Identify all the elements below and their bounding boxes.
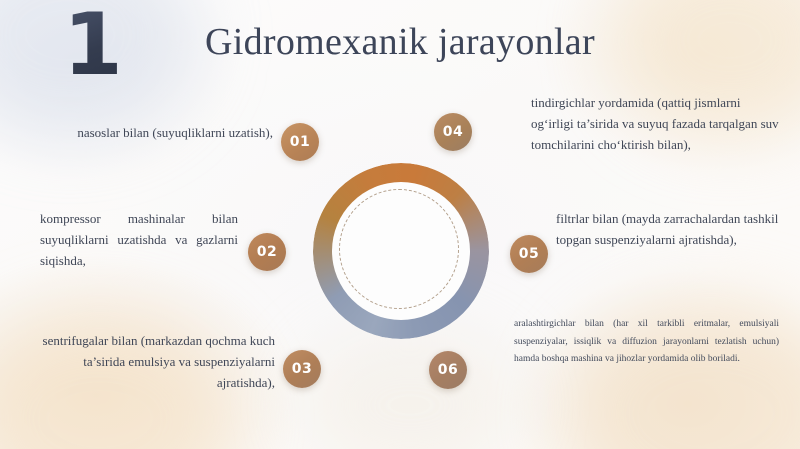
badge-05[interactable]: 05 bbox=[510, 235, 548, 273]
item-text-05: filtrlar bilan (mayda zarrachalardan tas… bbox=[556, 208, 784, 250]
page-title: Gidromexanik jarayonlar bbox=[205, 20, 725, 64]
slide-number: 1 bbox=[63, 2, 121, 88]
item-text-02: kompressor mashinalar bilan suyuqliklarn… bbox=[40, 208, 238, 271]
badge-06[interactable]: 06 bbox=[429, 351, 467, 389]
item-text-03: sentrifugalar bilan (markazdan qochma ku… bbox=[22, 330, 275, 393]
badge-04[interactable]: 04 bbox=[434, 113, 472, 151]
slide-canvas: 1 Gidromexanik jarayonlar 01 02 03 04 05… bbox=[0, 0, 800, 449]
decorative-blob-bottom-center bbox=[300, 330, 520, 449]
badge-03[interactable]: 03 bbox=[283, 350, 321, 388]
donut-diagram bbox=[313, 163, 489, 339]
badge-01[interactable]: 01 bbox=[281, 123, 319, 161]
item-text-06: aralashtirgichlar bilan (har xil tarkibl… bbox=[514, 316, 779, 369]
badge-02[interactable]: 02 bbox=[248, 233, 286, 271]
item-text-01: nasoslar bilan (suyuqliklarni uzatish), bbox=[28, 122, 273, 143]
item-text-04: tindirgichlar yordamida (qattiq jismlarn… bbox=[531, 92, 781, 155]
donut-dashed-circle bbox=[339, 189, 459, 309]
